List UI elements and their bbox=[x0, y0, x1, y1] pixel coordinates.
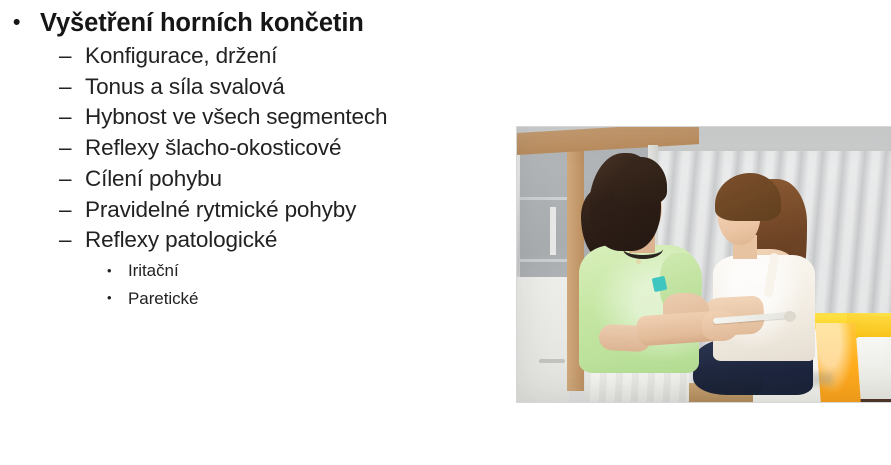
bullet-level2-item-cileni: – Cílení pohybu bbox=[0, 166, 460, 193]
bullet-level2-item-reflexy-slacho: – Reflexy šlacho-okosticové bbox=[0, 135, 460, 162]
photo-therapist-badge bbox=[652, 276, 668, 292]
bullet-level2-item-pravidelne: – Pravidelné rytmické pohyby bbox=[0, 197, 460, 224]
bullet-level2-text: Pravidelné rytmické pohyby bbox=[85, 197, 356, 222]
bullet-level2-text: Hybnost ve všech segmentech bbox=[85, 104, 387, 129]
bullet-marker-dash-icon: – bbox=[59, 166, 79, 193]
bullet-marker-dash-icon: – bbox=[59, 43, 79, 70]
photo-bed-white-side bbox=[858, 337, 891, 399]
bullet-level3-item-iritacni: • Iritační bbox=[0, 261, 460, 281]
photo-therapist-pendant bbox=[636, 259, 641, 264]
content-placeholder: • Vyšetření horních končetin – Konfigura… bbox=[0, 0, 460, 465]
photo-patient-knee bbox=[693, 359, 763, 395]
bullet-level2-text: Konfigurace, držení bbox=[85, 43, 277, 68]
photo-cabinet-shelf bbox=[520, 259, 567, 262]
photo-scene bbox=[517, 127, 891, 402]
bullet-level2-text: Cílení pohybu bbox=[85, 166, 222, 191]
bullet-level2-item-konfigurace: – Konfigurace, držení bbox=[0, 43, 460, 70]
slide-canvas: • Vyšetření horních končetin – Konfigura… bbox=[0, 0, 891, 465]
bullet-level3-text: Iritační bbox=[128, 261, 179, 280]
photo-examination-upper-limb bbox=[517, 127, 891, 402]
photo-bed-yellow-towel bbox=[815, 323, 861, 402]
photo-cabinet-handle bbox=[539, 359, 565, 363]
bullet-level2-text: Tonus a síla svalová bbox=[85, 74, 285, 99]
bullet-marker-dot-icon: • bbox=[13, 10, 20, 36]
bullet-marker-dash-icon: – bbox=[59, 104, 79, 131]
bullet-level3-item-pareticke: • Paretické bbox=[0, 289, 460, 309]
bullet-marker-dash-icon: – bbox=[59, 197, 79, 224]
bullet-marker-dot-icon: • bbox=[107, 261, 112, 281]
photo-cabinet-bottle bbox=[550, 207, 556, 255]
photo-therapist-hair-front bbox=[613, 157, 667, 205]
bullet-level2-item-hybnost: – Hybnost ve všech segmentech bbox=[0, 104, 460, 131]
bullet-marker-dash-icon: – bbox=[59, 135, 79, 162]
bullet-level1-text: Vyšetření horních končetin bbox=[40, 9, 364, 37]
bullet-level2-item-reflexy-patologicke: – Reflexy patologické bbox=[0, 227, 460, 254]
photo-cabinet-shelf bbox=[520, 197, 567, 200]
photo-cabinet-door bbox=[517, 277, 569, 402]
bullet-level2-text: Reflexy šlacho-okosticové bbox=[85, 135, 341, 160]
bullet-marker-dash-icon: – bbox=[59, 227, 79, 254]
bullet-level3-text: Paretické bbox=[128, 289, 198, 308]
bullet-level2-item-tonus: – Tonus a síla svalová bbox=[0, 74, 460, 101]
bullet-marker-dash-icon: – bbox=[59, 74, 79, 101]
bullet-level2-text: Reflexy patologické bbox=[85, 227, 277, 252]
bullet-marker-dot-icon: • bbox=[107, 288, 112, 308]
bullet-level1-item: • Vyšetření horních končetin bbox=[0, 9, 460, 39]
